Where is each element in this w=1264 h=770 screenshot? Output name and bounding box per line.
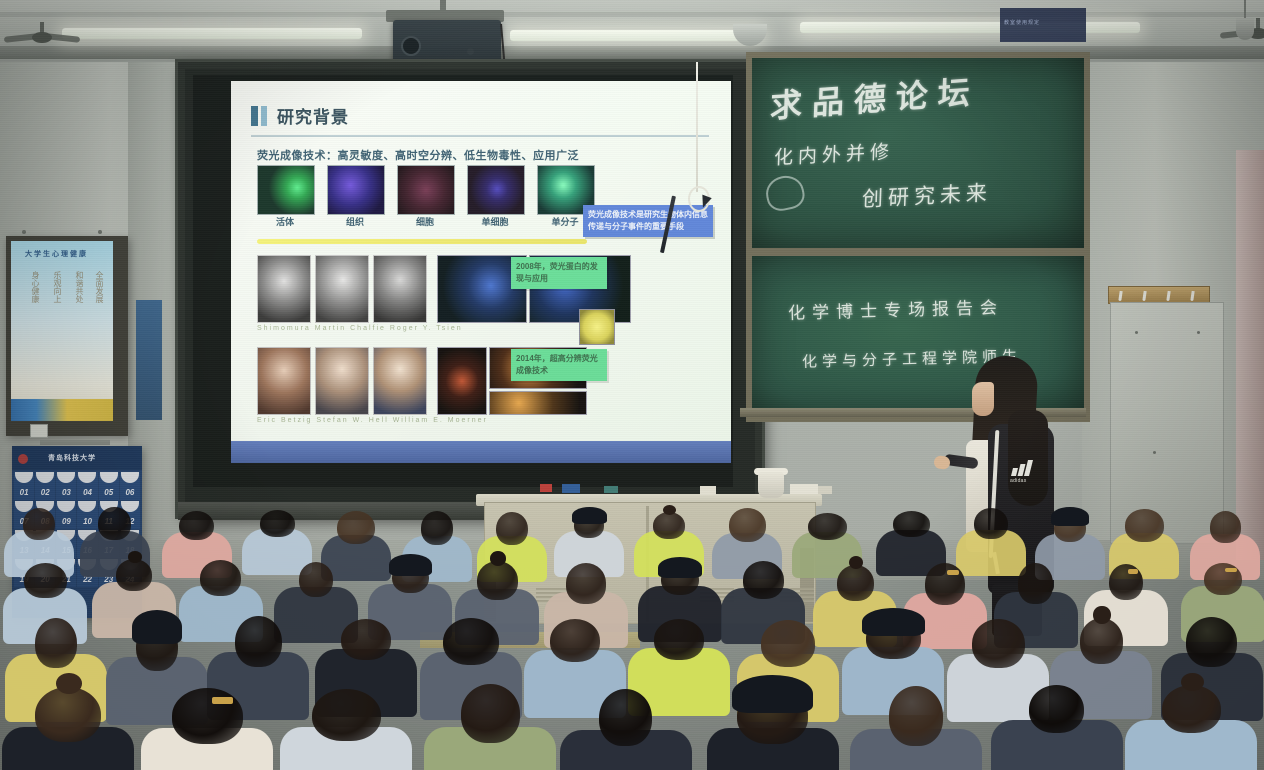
cup[interactable] [700, 486, 716, 495]
hair-clip-icon [212, 697, 233, 704]
paper-stack[interactable] [818, 486, 832, 494]
pocket-flap [57, 472, 75, 483]
audience-member-head [599, 689, 652, 747]
poster-column: 身心健康 [25, 271, 41, 303]
audience-member-head [974, 508, 1008, 539]
portrait [315, 255, 369, 323]
portrait [257, 255, 311, 323]
university-name: 青岛科技大学 [48, 453, 96, 463]
audience-member-head [337, 511, 375, 544]
hair-bun [663, 505, 676, 515]
pendant-wire [1244, 0, 1246, 20]
fluorescent-light-icon [62, 28, 362, 39]
hair-bun [56, 673, 82, 694]
callout-nobel-2008: 2008年，荧光蛋白的发现与应用 [511, 257, 607, 289]
chalk-text-title: 求品德论坛 [769, 67, 980, 128]
bulletin-strip [136, 300, 162, 420]
projector-lens [401, 36, 421, 56]
pocket-number: 05 [99, 488, 119, 497]
marker-pen[interactable] [540, 484, 552, 492]
door-frame [1236, 150, 1264, 560]
audience-member-head [35, 687, 101, 742]
baseball-cap-icon [658, 557, 702, 578]
fluorescent-light-icon [800, 22, 1140, 33]
poster-footer-graphic [11, 399, 113, 421]
audience-member-head [1125, 509, 1163, 542]
university-logo-icon [18, 454, 28, 464]
pendant-lamp-icon [1236, 18, 1254, 40]
slide-title: 研究背景 [277, 103, 349, 128]
baseball-cap-icon [732, 675, 814, 713]
wall-notice-text: 教室使用规定 [1004, 19, 1040, 26]
screen-surface: 研究背景 荧光成像技术：高灵敏度、高时空分辨、低生物毒性、应用广泛 活体 组织 … [193, 75, 733, 487]
audience-member-head [972, 619, 1025, 668]
baseball-cap-icon [389, 554, 431, 576]
pocket-number: 06 [120, 488, 140, 497]
vase[interactable] [758, 472, 784, 498]
thumbnail-caption: 单细胞 [467, 215, 523, 228]
poster-column: 乐观向上 [47, 271, 63, 303]
audience-member-head [653, 512, 686, 539]
audience-member-head [743, 561, 784, 599]
audience-member-head [421, 511, 453, 545]
screen-pull-cord[interactable] [696, 62, 698, 192]
audience-member-head [1186, 617, 1237, 667]
pocket-number: 01 [14, 488, 34, 497]
adidas-logo-icon [1012, 460, 1034, 476]
fluorescence-blob-image [579, 309, 615, 345]
baseball-cap-icon [132, 610, 182, 644]
poster-column: 全面发展 [89, 271, 105, 303]
chalk-text-line3: 创研究未来 [862, 177, 993, 214]
thumbnail-image [397, 165, 455, 215]
slide-subtitle: 荧光成像技术：高灵敏度、高时空分辨、低生物毒性、应用广泛 [257, 147, 579, 163]
audience-member-head [1080, 618, 1123, 664]
pocket-flap [36, 472, 54, 483]
phone-pocket[interactable]: 02 [35, 472, 55, 500]
audience-member-head [312, 689, 381, 742]
micrograph [489, 391, 587, 415]
paper-tray[interactable] [790, 484, 818, 494]
audience-member-head [116, 559, 152, 590]
thumbnail-image [257, 165, 315, 215]
baseball-cap-icon [862, 608, 925, 636]
audience-member-head [23, 508, 55, 540]
audience-member-head [443, 618, 499, 665]
portrait [315, 347, 369, 415]
poster-nail [22, 230, 26, 234]
audience-member-head [837, 565, 873, 601]
wall-notice-board: 教室使用规定 [1000, 8, 1086, 42]
audience-member-head [654, 619, 704, 660]
slide-accent-bar-2 [261, 106, 267, 126]
baseball-cap-icon [572, 507, 607, 524]
audience-member-head [1210, 511, 1241, 542]
thumbnail-caption: 组织 [327, 215, 383, 228]
ceiling-fan-icon [6, 22, 78, 56]
audience-member-head [461, 684, 520, 743]
audience-member-head [35, 618, 78, 669]
brand-label: adidas [1010, 478, 1027, 484]
phone-pocket[interactable]: 03 [56, 472, 76, 500]
hair-clip-icon [1128, 569, 1138, 573]
projection-screen: 研究背景 荧光成像技术：高灵敏度、高时空分辨、低生物毒性、应用广泛 活体 组织 … [178, 62, 762, 516]
slide-highlight-bar [257, 239, 587, 244]
pocket-chart-header: 青岛科技大学 [12, 446, 142, 470]
audience-member-head [477, 561, 518, 600]
thumbnail-image [327, 165, 385, 215]
presenter-hair-back [1008, 410, 1048, 506]
audience-member-head [1018, 563, 1052, 604]
audience-member-head [889, 686, 943, 745]
audience-member-head [761, 620, 815, 667]
poster-column: 和谐共处 [69, 271, 85, 303]
slide-accent-bar [251, 106, 258, 126]
phone-pocket[interactable]: 05 [99, 472, 119, 500]
audience-member-head [24, 563, 67, 598]
hair-bun [490, 551, 506, 566]
audience-member-head [260, 510, 295, 536]
pocket-flap [100, 472, 118, 483]
phone-pocket[interactable]: 06 [120, 472, 140, 500]
audience-member-head [98, 507, 130, 540]
poster-artwork: 大学生心理健康 身心健康 乐观向上 和谐共处 全面发展 [11, 241, 113, 421]
chalk-text-event: 化学博士专场报告会 [788, 293, 1005, 324]
audience-member-head [808, 513, 847, 540]
audience-member-head [341, 619, 391, 660]
audience-crowd [0, 500, 1264, 770]
poster-title: 大学生心理健康 [25, 249, 88, 259]
portrait [373, 347, 427, 415]
wall-poster: 大学生心理健康 身心健康 乐观向上 和谐共处 全面发展 [6, 236, 128, 436]
slide-header: 研究背景 [251, 103, 709, 133]
audience-member-head [566, 563, 607, 603]
audience-member-head [200, 560, 241, 596]
hair-clip-icon [1225, 568, 1236, 572]
light-switch[interactable] [30, 424, 48, 438]
audience-member-head [925, 563, 965, 605]
audience-member-head [299, 562, 333, 597]
hair-bun [128, 551, 143, 563]
thumbnail-image [467, 165, 525, 215]
audience-member-head [235, 616, 282, 667]
chalk-text-line2: 化内外并修 [774, 137, 895, 170]
pocket-chart-hanger [40, 440, 110, 445]
nobel-2014-names: Eric Betzig Stefan W. Hell William E. Mo… [257, 417, 488, 424]
chalk-doodle [763, 172, 807, 213]
pocket-number: 02 [35, 488, 55, 497]
callout-nobel-2014: 2014年，超高分辨荧光成像技术 [511, 349, 607, 381]
baseball-cap-icon [1051, 507, 1089, 526]
marker-pen[interactable] [604, 486, 618, 493]
portrait [257, 347, 311, 415]
classroom-photo: 研究背景 荧光成像技术：高灵敏度、高时空分辨、低生物毒性、应用广泛 活体 组织 … [0, 0, 1264, 770]
poster-nail [98, 230, 102, 234]
audience-member-head [729, 508, 766, 542]
blackboard-upper: 求品德论坛 化内外并修 创研究未来 [746, 52, 1090, 254]
hair-bun [1181, 673, 1205, 691]
pocket-flap [15, 472, 33, 483]
pocket-number: 04 [77, 488, 97, 497]
audience-member-head [1029, 685, 1084, 733]
phone-pocket[interactable]: 04 [77, 472, 97, 500]
audience-member-head [496, 512, 528, 545]
micrograph [437, 347, 487, 415]
hair-bun [1093, 606, 1110, 623]
nobel-2008-names: Shimomura Martin Chalfie Roger Y. Tsien [257, 325, 463, 332]
marker-pen[interactable] [562, 484, 580, 493]
portrait [373, 255, 427, 323]
presentation-slide: 研究背景 荧光成像技术：高灵敏度、高时空分辨、低生物毒性、应用广泛 活体 组织 … [231, 81, 731, 463]
hair-clip-icon [947, 570, 959, 575]
presenter-face [972, 382, 994, 416]
pocket-flap [121, 472, 139, 483]
audience-member-head [893, 511, 931, 537]
thumbnail-caption: 活体 [257, 215, 313, 228]
thumbnail-caption: 细胞 [397, 215, 453, 228]
slide-divider [251, 135, 709, 137]
slide-footer-band [231, 441, 731, 463]
phone-pocket[interactable]: 01 [14, 472, 34, 500]
fluorescent-light-icon [510, 30, 760, 41]
audience-member-head [1162, 685, 1221, 733]
pocket-number: 03 [56, 488, 76, 497]
audience-member-head [179, 511, 213, 541]
audience-member-head [550, 619, 600, 662]
projector-indicator [467, 48, 474, 55]
pocket-flap [78, 472, 96, 483]
